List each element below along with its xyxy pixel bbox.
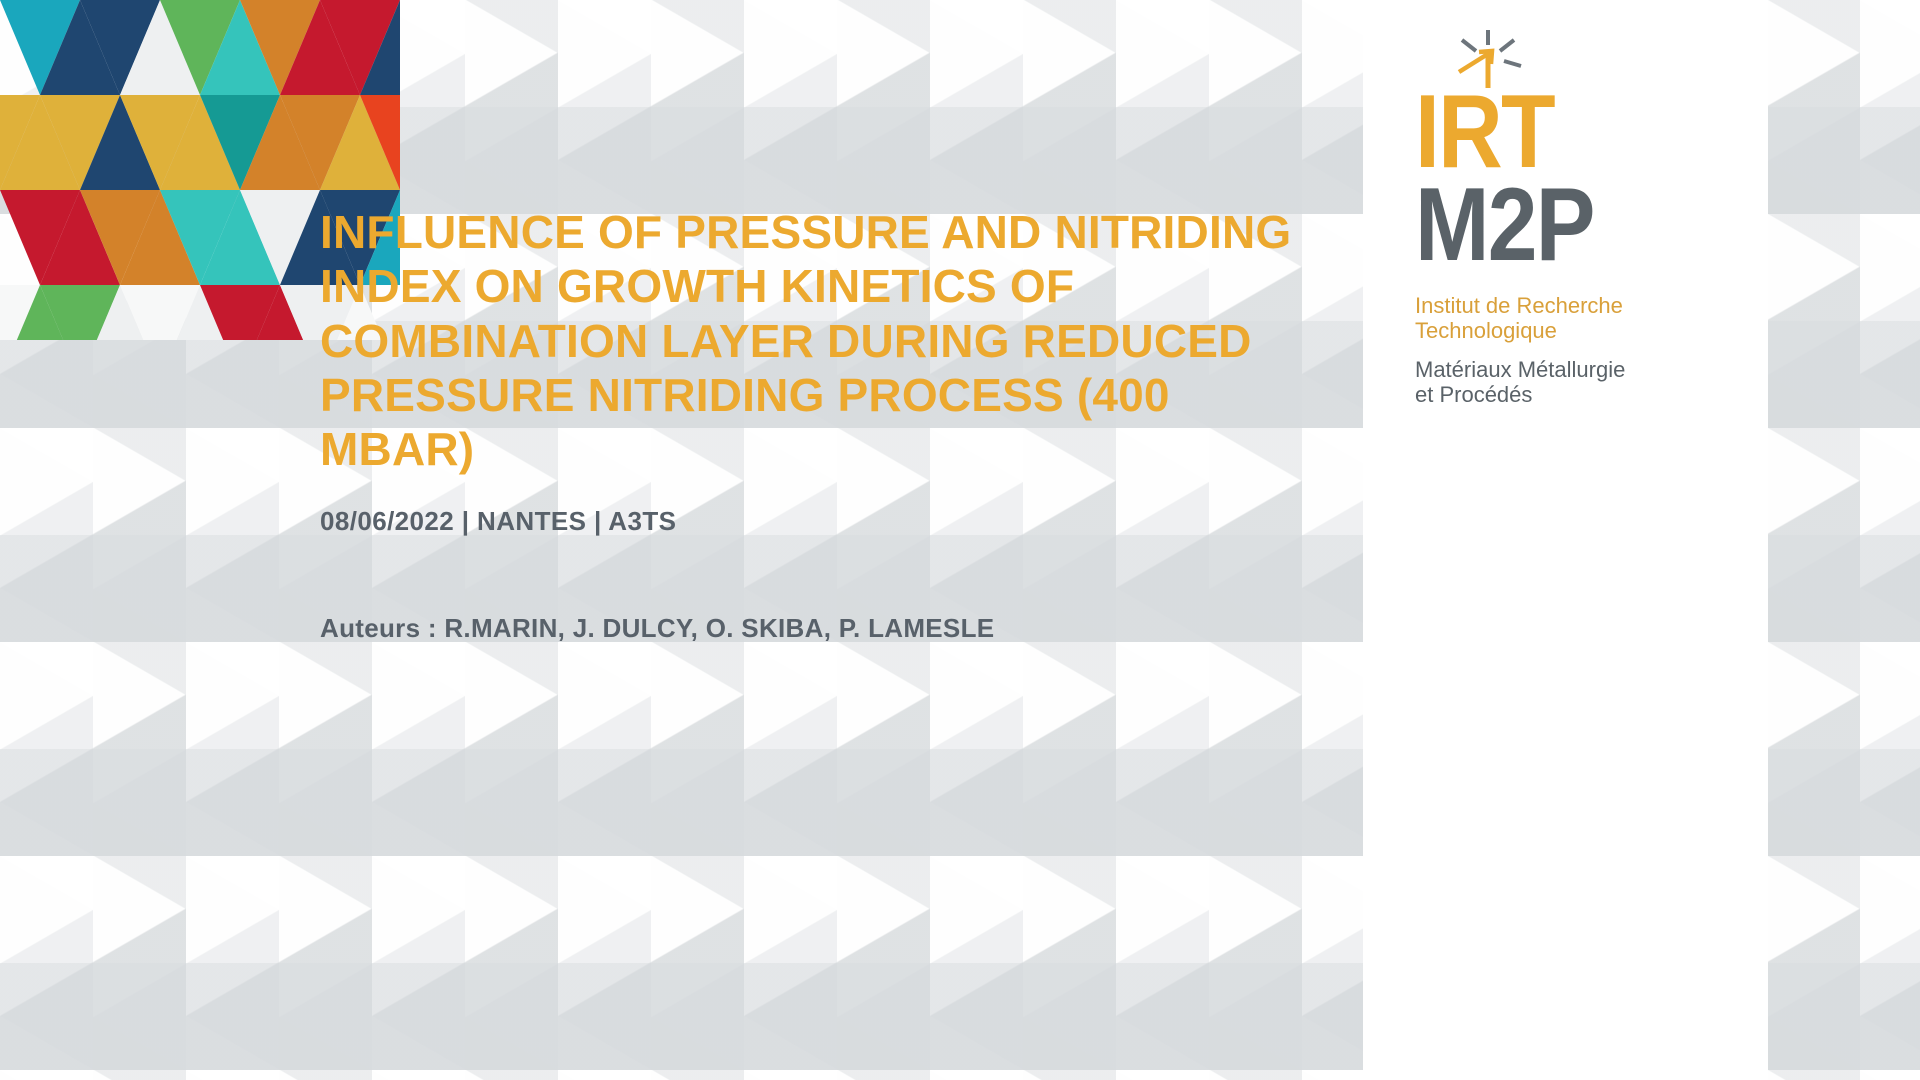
logo-tagline-institute: Institut de Recherche Technologique: [1415, 293, 1715, 343]
logo-tagline-domain-line2: et Procédés: [1415, 382, 1715, 407]
presentation-slide: INFLUENCE OF PRESSURE AND NITRIDING INDE…: [0, 0, 1920, 1080]
irt-m2p-logo: IRT M2P Institut de Recherche Technologi…: [1415, 28, 1715, 407]
logo-acronym-irt: IRT: [1415, 90, 1673, 175]
logo-tagline-domain-line1: Matériaux Métallurgie: [1415, 357, 1715, 382]
slide-subtitle: 08/06/2022 | NANTES | A3TS: [320, 506, 1320, 537]
logo-acronym-m2p: M2P: [1415, 181, 1673, 270]
slide-authors: Auteurs : R.MARIN, J. DULCY, O. SKIBA, P…: [320, 613, 1320, 644]
logo-tagline-institute-line2: Technologique: [1415, 318, 1715, 343]
logo-tagline-institute-line1: Institut de Recherche: [1415, 293, 1715, 318]
logo-tagline-domain: Matériaux Métallurgie et Procédés: [1415, 357, 1715, 407]
page-title: INFLUENCE OF PRESSURE AND NITRIDING INDE…: [320, 205, 1320, 476]
slide-text-block: INFLUENCE OF PRESSURE AND NITRIDING INDE…: [320, 205, 1320, 644]
